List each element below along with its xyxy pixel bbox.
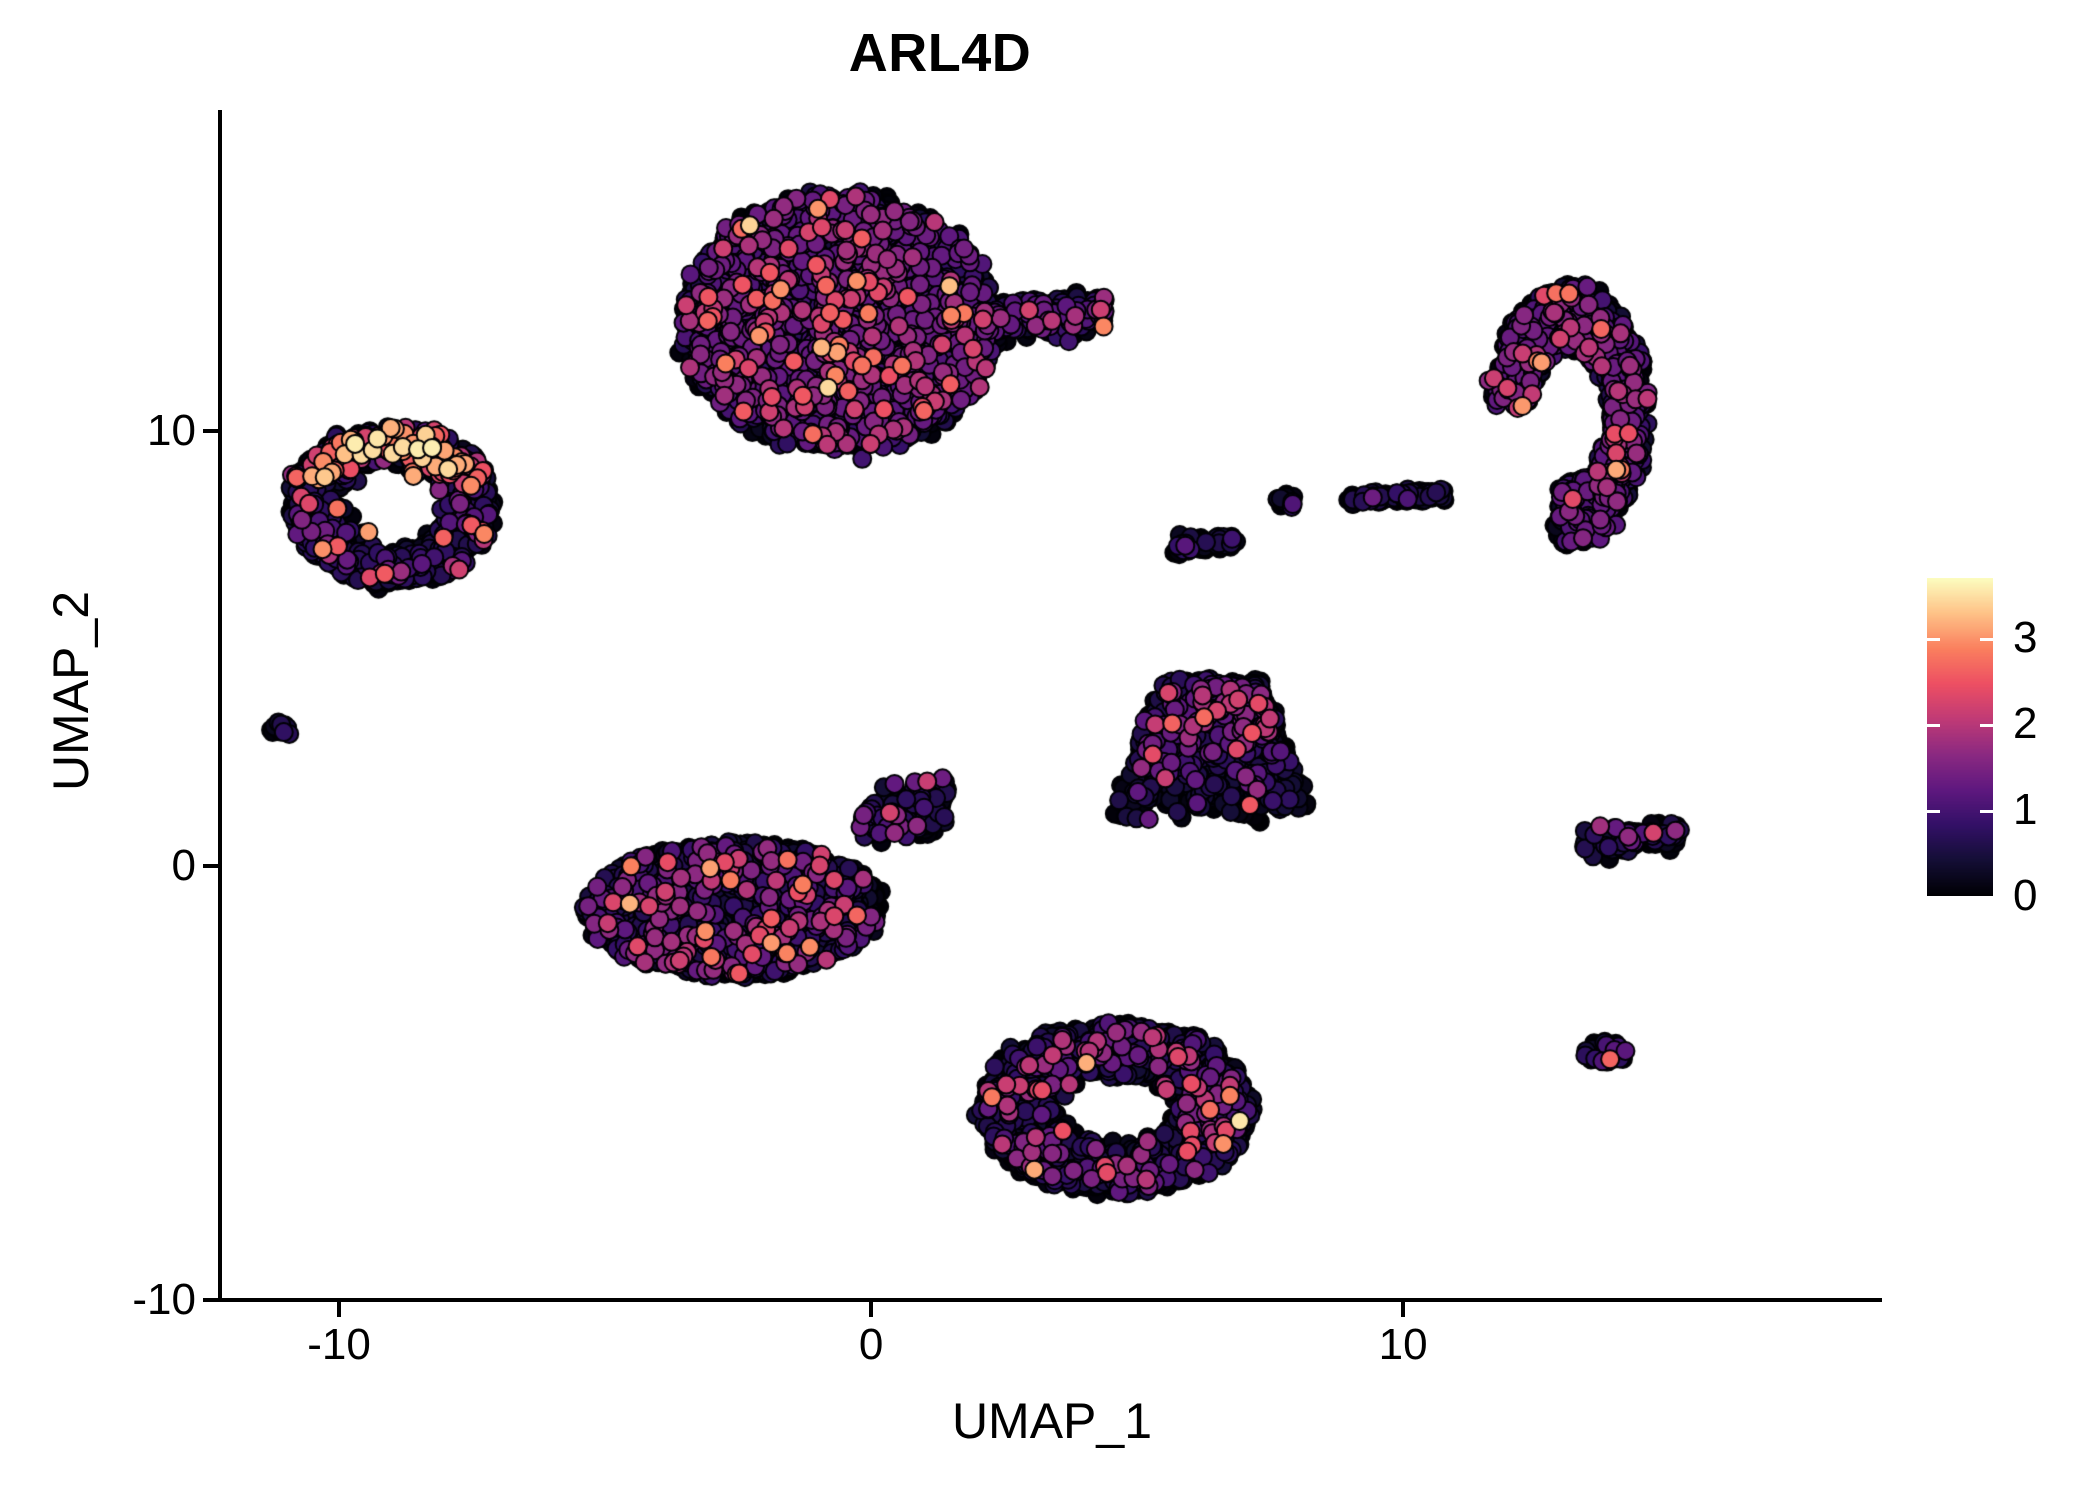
x-tick-label: 0 [859, 1320, 883, 1370]
page-title: ARL4D [0, 22, 1880, 84]
x-tick-mark [337, 1300, 341, 1317]
colorbar-tick [1980, 724, 1993, 727]
colorbar-tick [1927, 638, 1940, 641]
x-axis-title: UMAP_1 [222, 1392, 1882, 1450]
scatter-canvas [222, 110, 1882, 1300]
y-tick-label: 10 [147, 406, 196, 456]
colorbar-tick [1927, 896, 1940, 899]
colorbar-tick [1980, 810, 1993, 813]
y-axis-title: UMAP_2 [42, 381, 100, 1001]
x-tick-mark [869, 1300, 873, 1317]
colorbar-gradient [1927, 578, 1993, 896]
y-tick-mark [203, 1298, 220, 1302]
y-tick-mark [203, 864, 220, 868]
y-tick-label: -10 [132, 1275, 196, 1325]
colorbar-tick [1980, 638, 1993, 641]
x-axis-line [218, 1298, 1882, 1302]
y-tick-mark [203, 429, 220, 433]
colorbar-legend: 3 2 1 0 [1927, 578, 1993, 896]
y-tick-label: 0 [172, 841, 196, 891]
colorbar-tick [1927, 810, 1940, 813]
colorbar-tick-label: 2 [2013, 699, 2037, 749]
colorbar-tick-label: 1 [2013, 785, 2037, 835]
colorbar-tick [1980, 896, 1993, 899]
x-tick-label: -10 [307, 1320, 371, 1370]
y-axis-line [218, 110, 222, 1302]
x-tick-label: 10 [1379, 1320, 1428, 1370]
plot-panel [222, 110, 1882, 1300]
umap-feature-plot: ARL4D 10 0 -10 -10 0 10 UMAP_1 UMAP_2 3 … [0, 0, 2100, 1500]
colorbar-tick-label: 3 [2013, 613, 2037, 663]
colorbar-tick [1927, 724, 1940, 727]
x-tick-mark [1401, 1300, 1405, 1317]
colorbar-tick-label: 0 [2013, 871, 2037, 921]
